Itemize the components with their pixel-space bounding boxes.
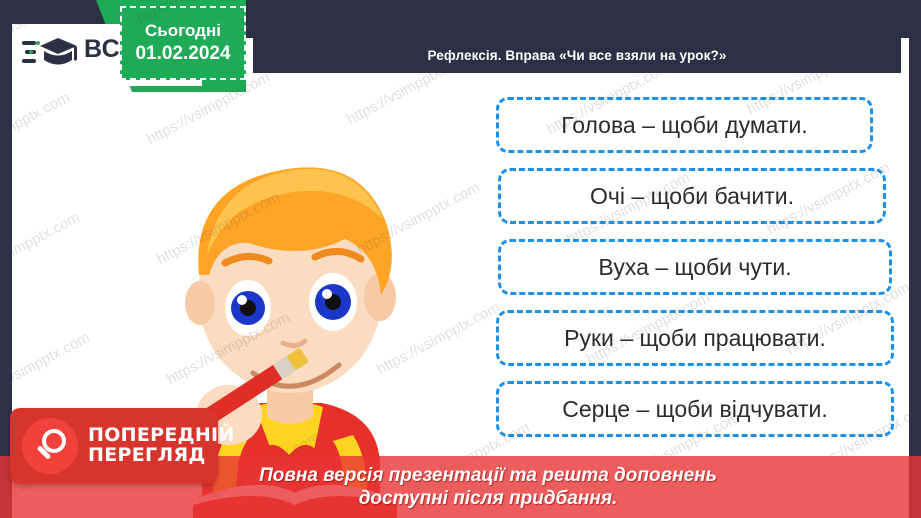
slide-title-bar: Рефлексія. Вправа «Чи все взяли на урок?… (253, 37, 901, 73)
date-badge: Сьогодні 01.02.2024 (120, 6, 246, 80)
preview-line-2: ПЕРЕГЛЯД (88, 446, 235, 466)
preview-badge-text: ПОПЕРЕДНІЙ ПЕРЕГЛЯД (88, 426, 235, 465)
preview-badge[interactable]: ПОПЕРЕДНІЙ ПЕРЕГЛЯД (10, 408, 218, 484)
date-value: 01.02.2024 (135, 43, 230, 65)
statement-item[interactable]: Руки – щоби працювати. (496, 310, 894, 366)
statement-item[interactable]: Вуха – щоби чути. (498, 239, 892, 295)
statement-item[interactable]: Очі – щоби бачити. (498, 168, 886, 224)
today-label: Сьогодні (145, 21, 221, 41)
statement-item[interactable]: Серце – щоби відчувати. (496, 381, 894, 437)
banner-line-1: Повна версія презентації та решта доповн… (259, 464, 717, 487)
page-title: Рефлексія. Вправа «Чи все взяли на урок?… (428, 48, 727, 63)
statement-item[interactable]: Голова – щоби думати. (496, 97, 873, 153)
statements-list: Голова – щоби думати. Очі – щоби бачити.… (496, 97, 894, 452)
magnifier-icon (22, 418, 78, 474)
graduation-cap-icon (22, 33, 78, 78)
slide-root: Голова – щоби думати. Очі – щоби бачити.… (0, 0, 921, 518)
banner-line-2: доступні після придбання. (359, 487, 618, 510)
